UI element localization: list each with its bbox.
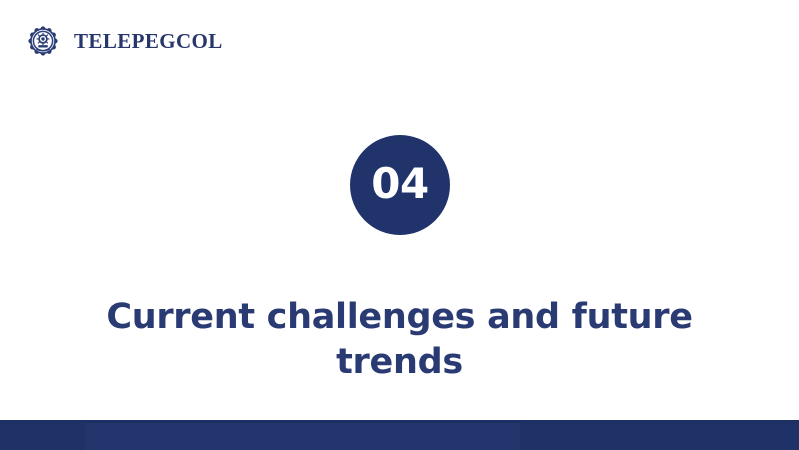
presentation-slide: TELEPEGCOL 04 Current challenges and fut… <box>0 0 799 450</box>
brand-logo <box>26 24 60 58</box>
section-number-badge: 04 <box>350 135 450 235</box>
footer-bar <box>0 420 799 450</box>
footer-bar-top-edge <box>0 420 799 423</box>
brand-name: TELEPEGCOL <box>74 31 223 52</box>
footer-bar-segment <box>520 420 799 450</box>
brand-lockup: TELEPEGCOL <box>26 22 223 60</box>
footer-bar-segment <box>0 420 85 450</box>
circular-seal-badge-icon <box>26 24 60 58</box>
section-number-text: 04 <box>371 163 428 205</box>
footer-bar-segment <box>85 420 520 450</box>
section-title: Current challenges and future trends <box>100 295 699 385</box>
